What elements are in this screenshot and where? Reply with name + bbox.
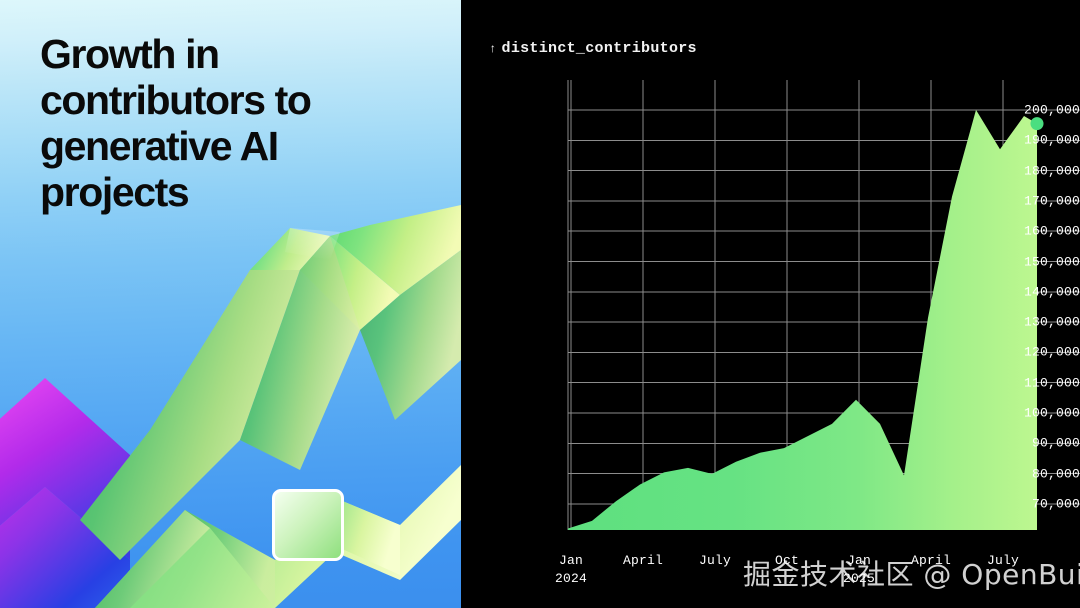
x-tick-label: July <box>699 552 731 570</box>
y-tick-label: 70,000 <box>992 496 1080 511</box>
y-tick-label: 130,000 <box>992 315 1080 330</box>
decorative-square-badge <box>272 489 344 561</box>
left-hero-panel: Growth in contributors to generative AI … <box>0 0 461 608</box>
x-tick-label: Jan 2024 <box>555 552 587 587</box>
y-tick-label: 180,000 <box>992 163 1080 178</box>
x-tick-line-1: April <box>623 552 663 570</box>
x-tick-line-1: Jan <box>555 552 587 570</box>
y-tick-label: 140,000 <box>992 284 1080 299</box>
page-title: Growth in contributors to generative AI … <box>40 32 370 216</box>
chart-panel: ↑distinct_contributors <box>461 0 1080 608</box>
screenshot-root: Growth in contributors to generative AI … <box>0 0 1080 608</box>
y-tick-label: 200,000 <box>992 103 1080 118</box>
chart-plot-area <box>461 0 1080 608</box>
series-endpoint-marker <box>1031 117 1044 130</box>
x-tick-line-1: July <box>699 552 731 570</box>
area-series-path <box>568 110 1037 530</box>
y-tick-label: 110,000 <box>992 375 1080 390</box>
y-tick-label: 160,000 <box>992 224 1080 239</box>
y-tick-label: 120,000 <box>992 345 1080 360</box>
x-tick-line-2: 2024 <box>555 570 587 588</box>
y-tick-label: 100,000 <box>992 406 1080 421</box>
y-tick-label: 190,000 <box>992 133 1080 148</box>
y-tick-label: 80,000 <box>992 466 1080 481</box>
y-tick-label: 150,000 <box>992 254 1080 269</box>
x-tick-label: April <box>623 552 663 570</box>
y-tick-label: 90,000 <box>992 436 1080 451</box>
watermark-text: 掘金技术社区 @ OpenBuild <box>743 553 1080 593</box>
y-tick-label: 170,000 <box>992 193 1080 208</box>
